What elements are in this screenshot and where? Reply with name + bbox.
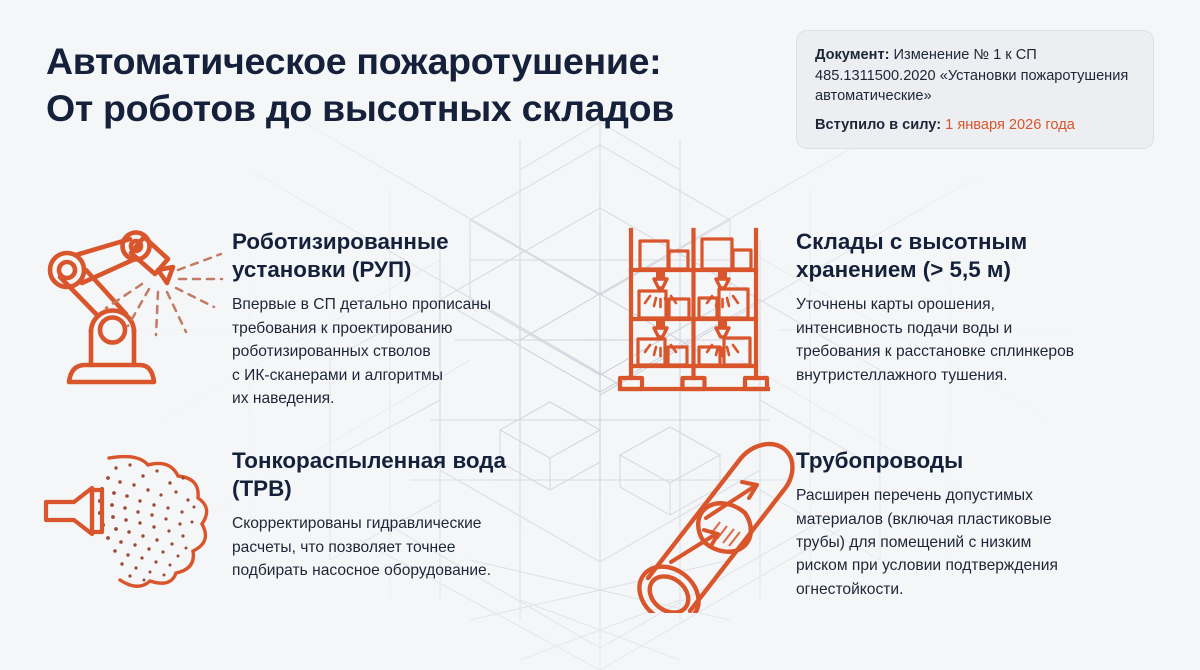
card-body: Скорректированы гидравлические расчеты, … [232,512,577,582]
card-title: Трубопроводы [796,447,1136,475]
page-title: Автоматическое пожаротушение: От роботов… [46,38,766,133]
card-body: Уточнены карты орошения, интенсивность п… [796,293,1126,387]
card-body: Расширен перечень допустимых материалов … [796,484,1136,601]
warehouse-rack-sprinkler-icon [614,218,774,403]
card-title: Склады с высотным хранением (> 5,5 м) [796,228,1126,284]
card-title: Роботизированные установки (РУП) [232,228,532,284]
pipeline-flow-icon [608,438,818,613]
effective-date-value: 1 января 2026 года [941,117,1075,133]
card-high-bay-warehouses: Склады с высотным хранением (> 5,5 м) Ут… [796,228,1126,387]
card-pipelines: Трубопроводы Расширен перечень допустимы… [796,447,1136,601]
document-badge: Документ: Изменение № 1 к СП 485.1311500… [796,30,1154,149]
document-label: Документ: [815,47,889,63]
mist-droplets [98,463,196,581]
card-body: Впервые в СП детально прописаны требован… [232,293,532,410]
card-title: Тонкораспыленная вода (ТРВ) [232,447,577,503]
nozzle-body [46,488,102,534]
document-reference: Документ: Изменение № 1 к СП 485.1311500… [815,45,1135,107]
card-water-mist: Тонкораспыленная вода (ТРВ) Скорректиров… [232,447,577,583]
robot-arm-sprayer-icon [36,222,226,407]
card-robotic-installations: Роботизированные установки (РУП) Впервые… [232,228,532,410]
effective-label: Вступило в силу: [815,117,941,133]
infographic-page: Автоматическое пожаротушение: От роботов… [0,0,1200,670]
effective-date-row: Вступило в силу: 1 января 2026 года [815,116,1135,135]
water-mist-nozzle-icon [30,452,220,602]
